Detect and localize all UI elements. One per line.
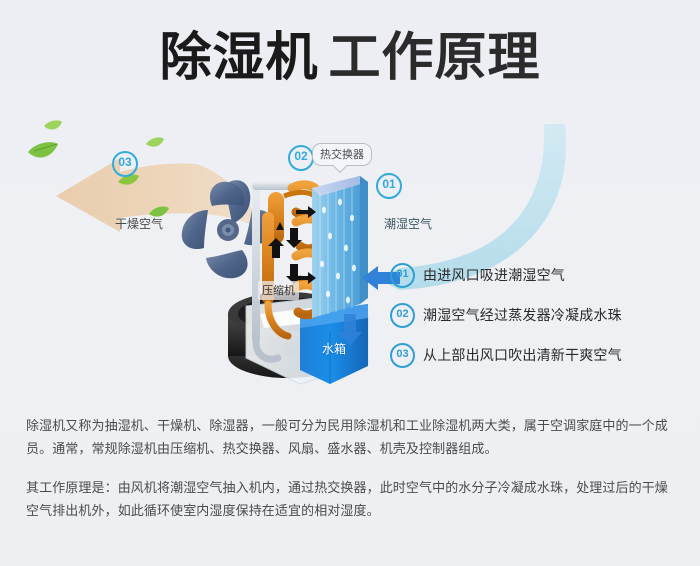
diagram-badge-02: 02 <box>288 145 314 171</box>
diagram-badge-03: 03 <box>112 151 138 177</box>
paragraph-2: 其工作原理是：由风机将潮湿空气抽入机内，通过热交换器，此时空气中的水分子冷凝成水… <box>26 476 676 522</box>
compressor-label: 压缩机 <box>258 281 299 300</box>
water-tank-label: 水箱 <box>322 340 346 357</box>
legend-text-02: 潮湿空气经过蒸发器冷凝成水珠 <box>423 305 622 325</box>
page-title: 除湿机工作原理 <box>0 28 700 88</box>
body-copy: 除湿机又称为抽湿机、干燥机、除湿器，一般可分为民用除湿机和工业除湿机两大类，属于… <box>26 414 676 522</box>
legend-badge-02: 02 <box>390 303 415 328</box>
legend-text-01: 由进风口吸进潮湿空气 <box>423 265 565 285</box>
legend-list: 01 由进风口吸进潮湿空气 02 潮湿空气经过蒸发器冷凝成水珠 03 从上部出风… <box>390 255 690 375</box>
legend-item: 01 由进风口吸进潮湿空气 <box>390 255 690 295</box>
evaporator-block <box>312 176 368 318</box>
humid-air-label: 潮湿空气 <box>384 215 432 232</box>
heat-exchanger-callout: 热交换器 <box>312 143 372 166</box>
legend-badge-03: 03 <box>390 343 415 368</box>
machine-body <box>228 176 400 384</box>
diagram-badge-01: 01 <box>376 173 402 199</box>
page-title-main: 除湿机 <box>159 29 318 87</box>
legend-badge-01: 01 <box>390 263 415 288</box>
legend-item: 03 从上部出风口吹出清新干爽空气 <box>390 335 690 375</box>
dry-air-label: 干燥空气 <box>115 215 163 232</box>
paragraph-1: 除湿机又称为抽湿机、干燥机、除湿器，一般可分为民用除湿机和工业除湿机两大类，属于… <box>26 414 676 460</box>
legend-text-03: 从上部出风口吹出清新干爽空气 <box>423 345 622 365</box>
legend-item: 02 潮湿空气经过蒸发器冷凝成水珠 <box>390 295 690 335</box>
page-title-sub: 工作原理 <box>329 29 541 87</box>
dehumidifier-infographic-page: 除湿机工作原理 <box>0 0 700 566</box>
